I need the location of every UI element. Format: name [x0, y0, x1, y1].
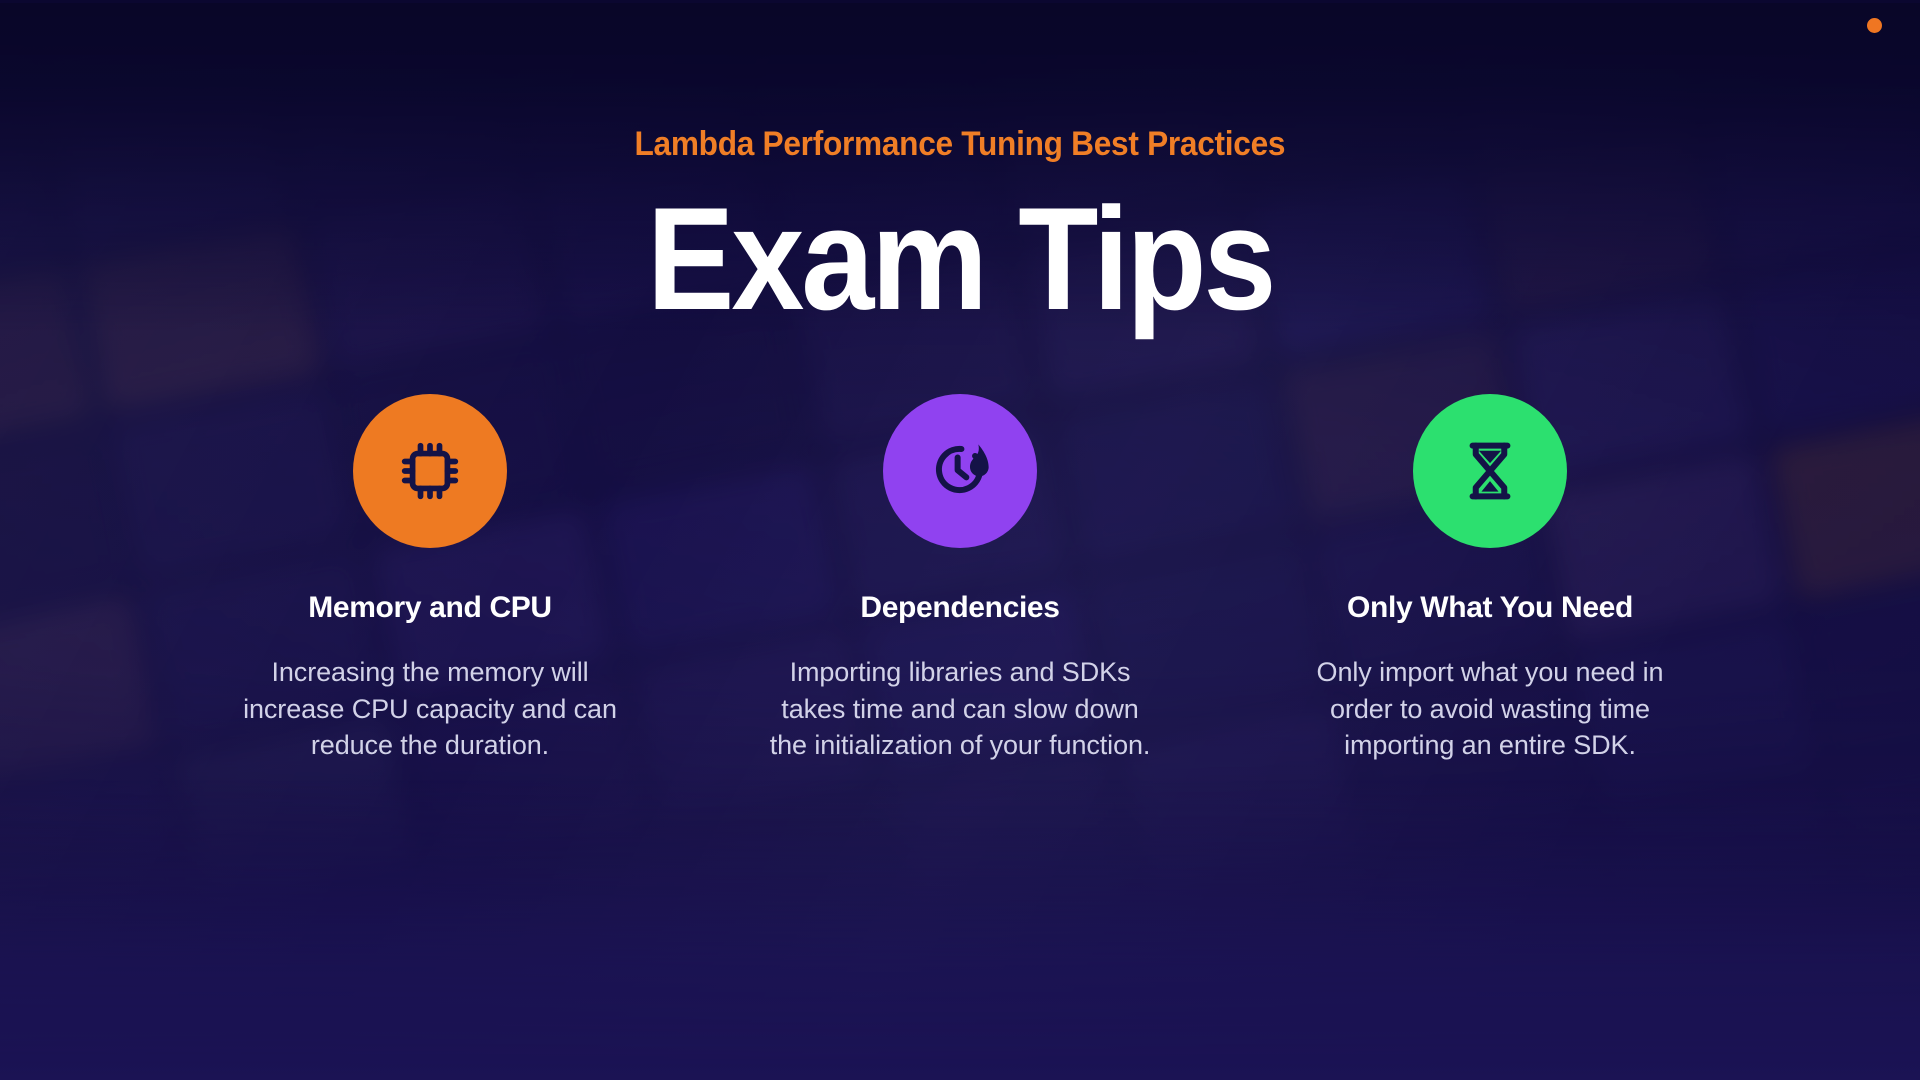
slide-canvas: Lambda Performance Tuning Best Practices…: [0, 0, 1920, 1080]
slide-content: Lambda Performance Tuning Best Practices…: [0, 0, 1920, 1080]
tip-title: Dependencies: [860, 591, 1059, 625]
tip-badge-only-what-you-need: [1413, 394, 1567, 548]
tip-body: Increasing the memory will increase CPU …: [233, 654, 628, 764]
tip-card-only-what-you-need: Only What You Need Only import what you …: [1290, 394, 1690, 764]
clock-flame-icon: [922, 433, 998, 509]
tip-card-dependencies: Dependencies Importing libraries and SDK…: [760, 394, 1160, 764]
tip-title: Only What You Need: [1347, 591, 1633, 625]
tip-card-memory-and-cpu: Memory and CPU Increasing the memory wil…: [230, 394, 630, 764]
tips-row: Memory and CPU Increasing the memory wil…: [130, 394, 1790, 764]
tip-badge-memory-and-cpu: [353, 394, 507, 548]
tip-body: Importing libraries and SDKs takes time …: [763, 654, 1158, 764]
hourglass-icon: [1452, 433, 1528, 509]
tip-body: Only import what you need in order to av…: [1293, 654, 1688, 764]
cpu-chip-icon: [392, 433, 468, 509]
tip-title: Memory and CPU: [308, 591, 551, 625]
page-title: Exam Tips: [647, 186, 1274, 332]
slide-eyebrow: Lambda Performance Tuning Best Practices: [635, 125, 1286, 164]
tip-badge-dependencies: [883, 394, 1037, 548]
